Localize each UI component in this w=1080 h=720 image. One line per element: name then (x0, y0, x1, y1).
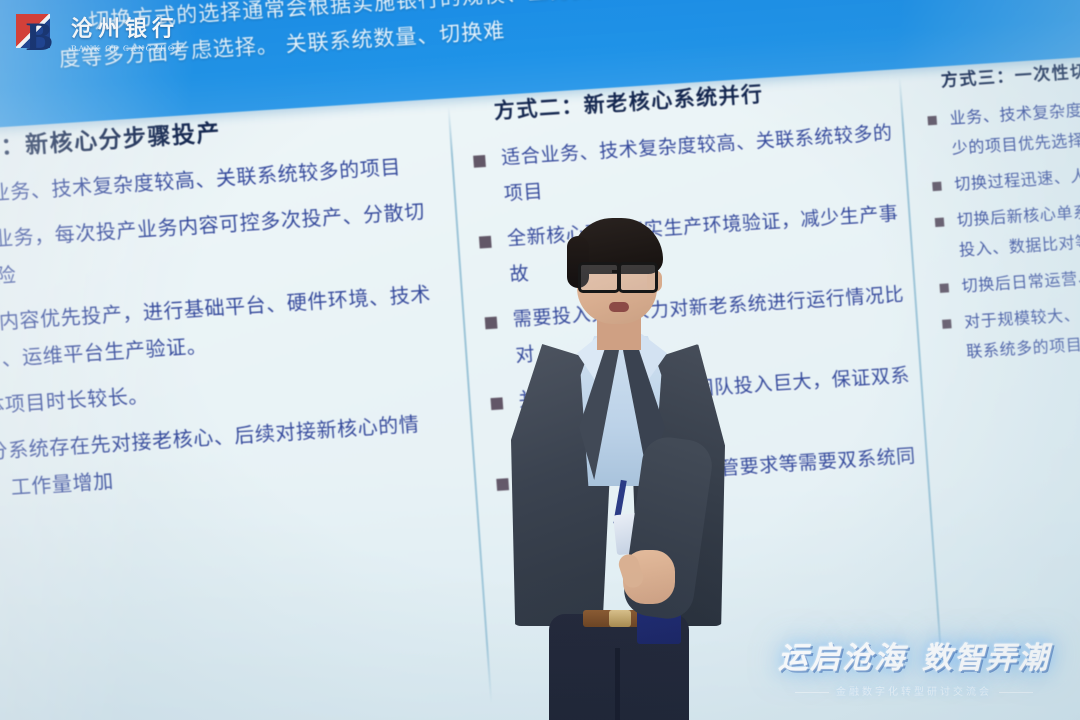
glasses-lens-left-icon (578, 262, 620, 293)
column-two-title-main: 新老核心系统并行 (583, 83, 764, 118)
presenter-mouth (609, 302, 629, 312)
column-method-one: 方式一：新核心分步骤投产 适合业务、技术复杂度较高、关联系统较多的项目 拆分业务… (0, 99, 457, 521)
presenter-belt-buckle (609, 610, 631, 627)
event-watermark: 运启沧海数智弄潮 金融数字化转型研讨交流会 (764, 633, 1064, 698)
watermark-rule-left (795, 692, 829, 693)
glasses-bridge-icon (612, 270, 621, 273)
list-item: 部分系统存在先对接老核心、后续对接新核心的情况，工作量增加 (0, 405, 456, 512)
bank-name-en: BANK OF CANGZHOU (71, 42, 184, 54)
column-one-title-sep: ： (0, 132, 26, 160)
watermark-main-left: 运启沧海 (778, 642, 906, 675)
column-method-three: 方式三：一次性切换 业务、技术复杂度较低、关联系统较少的项目优先选择 切换过程迅… (920, 48, 1080, 376)
column-two-title-prefix: 方式二 (493, 96, 562, 123)
bank-logo-mark-icon: B (16, 14, 62, 58)
column-one-title-main: 新核心分步骤投产 (24, 119, 221, 158)
list-item: 业务、技术复杂度较低、关联系统较少的项目优先选择 (923, 87, 1080, 166)
column-one-bullets: 适合业务、技术复杂度较高、关联系统较多的项目 拆分业务，每次投产业务内容可控多次… (0, 147, 456, 512)
column-three-title-sep: ： (996, 67, 1016, 87)
watermark-rule-right (999, 692, 1033, 693)
bank-logo: B 沧州银行 BANK OF CANGZHOU (16, 14, 184, 58)
watermark-main-right: 数智弄潮 (922, 642, 1050, 675)
bank-logo-text: 沧州银行 BANK OF CANGZHOU (71, 18, 184, 54)
bank-name-cn: 沧州银行 (71, 18, 184, 42)
column-two-title-sep: ： (561, 95, 585, 119)
column-three-bullets: 业务、技术复杂度较低、关联系统较少的项目优先选择 切换过程迅速、人员投入较少 切… (923, 87, 1080, 370)
column-three-title-main: 一次性切换 (1014, 61, 1080, 86)
logo-letter: B (26, 17, 62, 57)
watermark-subtitle: 金融数字化转型研讨交流会 (836, 687, 992, 698)
watermark-main-text: 运启沧海数智弄潮 (764, 633, 1064, 677)
presenter-trouser-seam (615, 648, 620, 720)
column-three-title-prefix: 方式三 (940, 68, 997, 91)
glasses-lens-right-icon (618, 262, 658, 293)
watermark-subtitle-row: 金融数字化转型研讨交流会 (764, 683, 1064, 698)
presenter-figure: FINANCE FORUM (505, 218, 725, 720)
photo-scene: 方式 ...局创环境的切换方式 ...流的切换方式为三种：新老核心系统并行使用、… (0, 0, 1080, 720)
